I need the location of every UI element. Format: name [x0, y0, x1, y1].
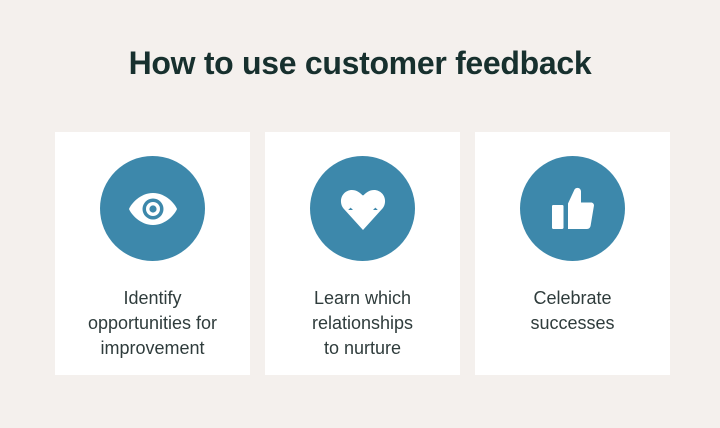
card-celebrate-successes[interactable]: Celebrate successes — [475, 132, 670, 375]
infographic-canvas: How to use customer feedback Identify op… — [0, 0, 720, 428]
page-title: How to use customer feedback — [0, 44, 720, 82]
card-label: Learn which relationships to nurture — [278, 286, 448, 361]
heart-handshake-icon — [340, 187, 386, 231]
eye-icon — [128, 192, 178, 226]
card-label: Identify opportunities for improvement — [68, 286, 238, 361]
thumbs-up-icon — [550, 187, 596, 231]
card-identify-opportunities[interactable]: Identify opportunities for improvement — [55, 132, 250, 375]
icon-badge — [100, 156, 205, 261]
icon-badge — [520, 156, 625, 261]
icon-badge — [310, 156, 415, 261]
card-label: Celebrate successes — [488, 286, 658, 336]
card-learn-relationships[interactable]: Learn which relationships to nurture — [265, 132, 460, 375]
card-row: Identify opportunities for improvement L… — [55, 132, 670, 375]
